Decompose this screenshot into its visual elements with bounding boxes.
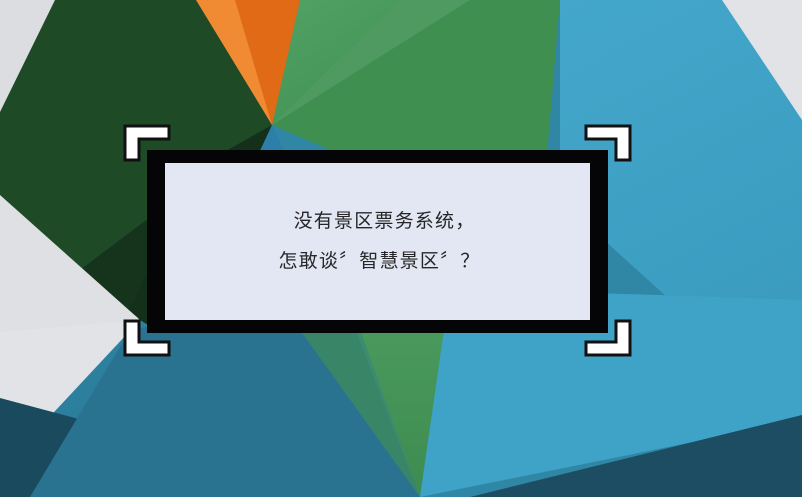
quote-line-2: 怎敢谈〞智慧景区〞？ [274, 252, 480, 271]
quote-line-1: 没有景区票务系统， [280, 212, 476, 231]
quote-card-frame: 没有景区票务系统， 怎敢谈〞智慧景区〞？ [147, 150, 608, 333]
quote-card-panel: 没有景区票务系统， 怎敢谈〞智慧景区〞？ [165, 163, 590, 320]
poster-canvas: 没有景区票务系统， 怎敢谈〞智慧景区〞？ [0, 0, 802, 497]
